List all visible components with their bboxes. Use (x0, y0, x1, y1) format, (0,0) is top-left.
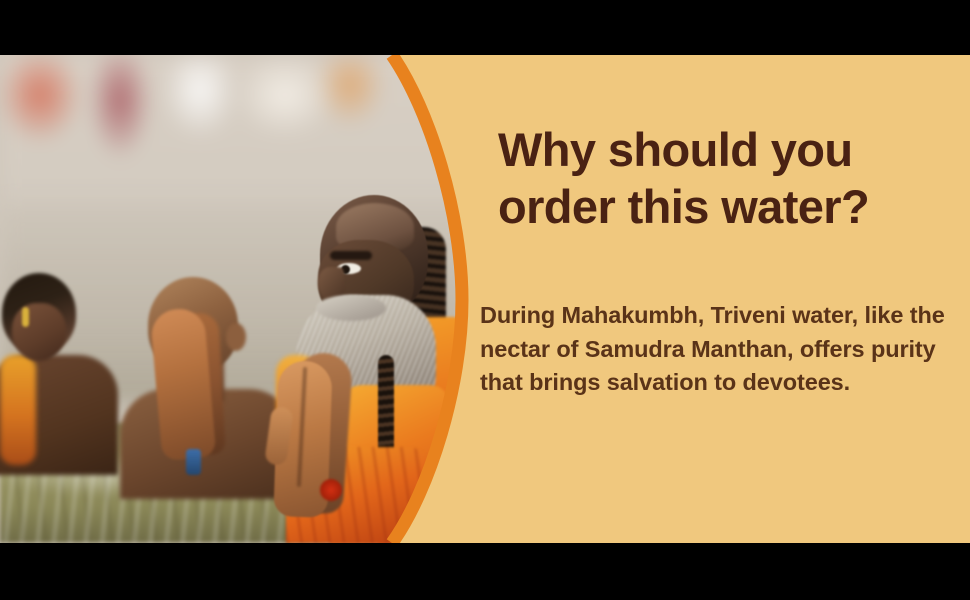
devotee-bald-ear (226, 323, 246, 351)
sadhu-moustache (316, 295, 386, 321)
promotional-banner: Why should you order this water? During … (0, 0, 970, 600)
sadhu-eyebrow (330, 251, 372, 260)
letterbox-bar-bottom (0, 543, 970, 600)
body-paragraph: During Mahakumbh, Triveni water, like th… (480, 299, 946, 400)
river-bathing-photo (0, 55, 470, 543)
devotee-dark-hair-scarf (0, 355, 36, 465)
text-column: Why should you order this water? During … (478, 55, 948, 543)
content-strip: Why should you order this water? During … (0, 55, 970, 543)
headline: Why should you order this water? (498, 121, 948, 236)
sadhu-red-tilak-cloth (320, 479, 342, 501)
letterbox-bar-top (0, 0, 970, 55)
devotee-amulet (186, 449, 201, 475)
devotee-dark-hair-face (12, 303, 66, 361)
photo-region (0, 55, 470, 543)
devotee-tilak-mark (22, 307, 29, 327)
